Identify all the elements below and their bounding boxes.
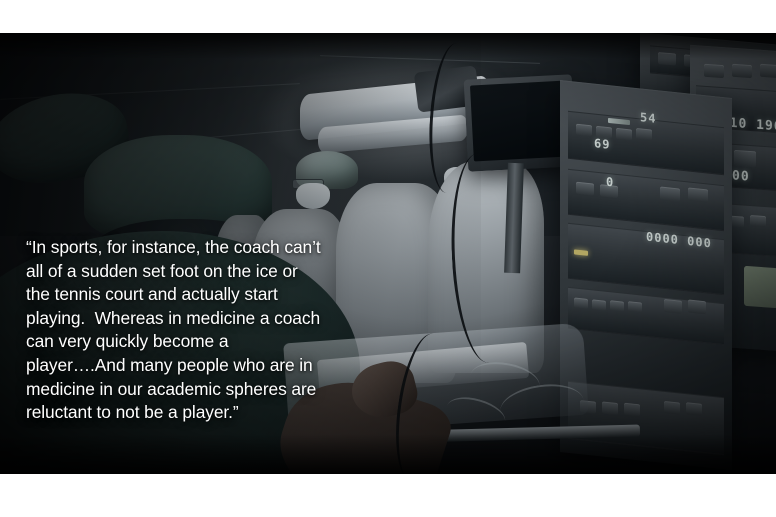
rack-button[interactable]: [616, 128, 632, 141]
rack-button[interactable]: [688, 187, 708, 202]
rack-button[interactable]: [704, 64, 724, 78]
rack-button[interactable]: [628, 301, 642, 312]
patient-monitor-screen: [470, 81, 570, 162]
rack-button[interactable]: [660, 186, 680, 201]
rack-button[interactable]: [574, 297, 588, 308]
monitor-readout-54: 54: [640, 110, 656, 126]
monitor-readout-00: 00: [732, 168, 750, 184]
quote-text: “In sports, for instance, the coach can’…: [26, 236, 326, 425]
rack-button[interactable]: [610, 300, 624, 311]
rack-panel: [568, 381, 724, 455]
rack-button[interactable]: [760, 64, 776, 78]
rack-button[interactable]: [688, 299, 706, 314]
rack-button[interactable]: [576, 124, 592, 137]
surgical-mask: [296, 183, 330, 209]
monitor-readout-69: 69: [594, 136, 610, 152]
monitor-readout-0: 0: [606, 175, 614, 190]
rack-button[interactable]: [734, 150, 756, 168]
rack-button[interactable]: [664, 299, 682, 314]
rack-button[interactable]: [664, 401, 680, 415]
rack-panel: [568, 287, 724, 345]
operating-room-photo: 2 10 196 00: [0, 33, 776, 474]
rack-button[interactable]: [658, 52, 676, 66]
rack-button[interactable]: [602, 401, 618, 415]
rack-button[interactable]: [624, 403, 640, 417]
rack-button[interactable]: [750, 215, 766, 227]
rack-button[interactable]: [732, 64, 752, 78]
auxiliary-display: [744, 266, 776, 308]
rack-button[interactable]: [686, 402, 702, 416]
rack-button[interactable]: [592, 299, 606, 310]
rack-button[interactable]: [576, 182, 594, 196]
rack-button[interactable]: [636, 128, 652, 141]
slide-canvas: 2 10 196 00: [0, 0, 776, 517]
